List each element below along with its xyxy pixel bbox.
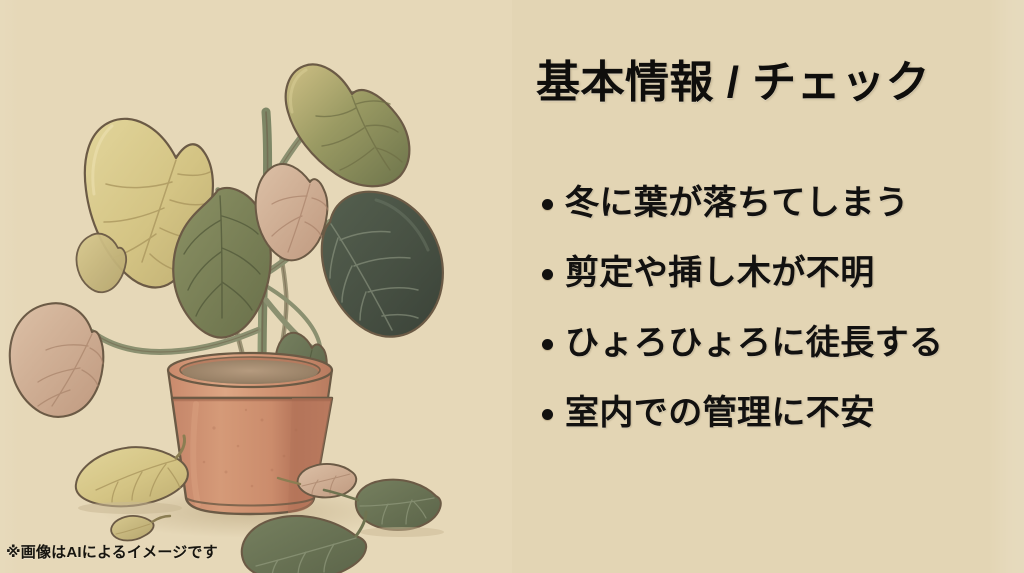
list-item-label: ひょろひょろに徒長する	[565, 326, 943, 360]
list-item: 剪定や挿し木が不明	[542, 238, 1002, 308]
list-item: 冬に葉が落ちてしまう	[542, 168, 1002, 238]
slide-root: 基本情報 / チェック 冬に葉が落ちてしまう 剪定や挿し木が不明 ひょろひょろに…	[0, 0, 1024, 573]
ai-image-disclaimer: ※画像はAIによるイメージです	[6, 541, 218, 562]
list-item: ひょろひょろに徒長する	[542, 308, 1002, 378]
bullet-dot-icon	[542, 409, 553, 420]
list-item-label: 室内での管理に不安	[565, 396, 875, 430]
checklist: 冬に葉が落ちてしまう 剪定や挿し木が不明 ひょろひょろに徒長する 室内での管理に…	[542, 168, 1002, 448]
bullet-dot-icon	[542, 199, 553, 210]
potted-plant-illustration	[0, 0, 512, 573]
list-item-label: 冬に葉が落ちてしまう	[565, 186, 909, 220]
bullet-dot-icon	[542, 269, 553, 280]
page-title: 基本情報 / チェック	[536, 46, 930, 110]
content-panel: 基本情報 / チェック 冬に葉が落ちてしまう 剪定や挿し木が不明 ひょろひょろに…	[512, 0, 1024, 573]
bullet-dot-icon	[542, 339, 553, 350]
list-item: 室内での管理に不安	[542, 378, 1002, 448]
list-item-label: 剪定や挿し木が不明	[565, 256, 875, 290]
